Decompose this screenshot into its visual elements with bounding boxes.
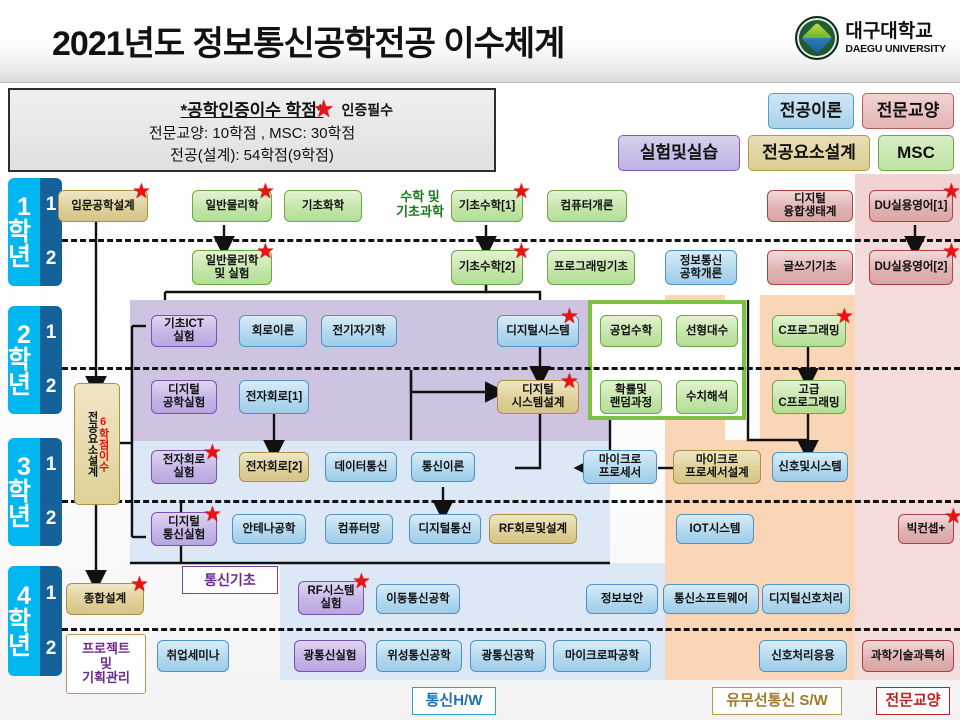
course-box-c24[interactable]: 확률및랜덤과정 <box>600 380 662 414</box>
star-icon: ★ <box>313 98 335 122</box>
year-word-1: 학년 <box>8 220 40 270</box>
course-label-c34: 디지털통신실험 <box>163 516 205 542</box>
course-label-c21: 디지털공학실험 <box>163 384 205 410</box>
design-core-credit: 6학점이수 <box>97 416 108 472</box>
year-number-4: 4 <box>17 584 31 609</box>
course-box-c32[interactable]: 마이크로프로세서설계 <box>673 450 761 484</box>
semester-separator-y4 <box>62 628 960 631</box>
course-box-c51[interactable]: 광통신공학 <box>470 640 546 672</box>
course-box-c50[interactable]: 위성통신공학 <box>376 640 462 672</box>
year-label-3: 3 학년 <box>8 438 40 546</box>
course-box-c12[interactable]: 글쓰기기초 <box>767 250 853 285</box>
group-label-math-science: 수학 및 기초과학 <box>372 190 468 220</box>
course-box-c6[interactable]: 디지털융합생태계 <box>767 190 853 222</box>
year-label-4: 4 학년 <box>8 566 40 676</box>
course-box-c33[interactable]: 신호및시스템 <box>772 452 848 482</box>
year-semesters-2: 1 2 <box>40 306 62 414</box>
course-box-c29[interactable]: 데이터통신 <box>325 452 397 482</box>
course-box-c38[interactable]: RF회로및설계 <box>489 514 577 544</box>
course-box-c8[interactable]: 일반물리학및 실험 <box>192 250 272 285</box>
course-label-c14: 기초ICT실험 <box>164 318 204 344</box>
course-label-c11: 정보통신공학개론 <box>680 255 722 281</box>
year-word-4: 학년 <box>8 609 40 659</box>
course-box-c18[interactable]: 공업수학 <box>600 315 662 347</box>
course-box-c43[interactable]: 이동통신공학 <box>376 584 460 614</box>
year-label-2: 2 학년 <box>8 306 40 414</box>
course-box-c44[interactable]: 정보보안 <box>586 584 658 614</box>
course-label-c26: 고급C프로그래밍 <box>778 384 839 410</box>
course-box-c16[interactable]: 전기자기학 <box>321 315 397 347</box>
year-semesters-4: 1 2 <box>40 566 62 676</box>
course-box-c27[interactable]: 전자회로실험 <box>151 450 217 484</box>
course-box-c5[interactable]: 컴퓨터개론 <box>547 190 627 222</box>
year-word-2: 학년 <box>8 348 40 398</box>
university-seal-icon <box>795 16 839 60</box>
year-semesters-3: 1 2 <box>40 438 62 546</box>
course-box-c13[interactable]: DU실용영어[2] <box>869 250 953 285</box>
course-box-c49[interactable]: 광통신실험 <box>294 640 366 672</box>
page-title: 2021년도 정보통신공학전공 이수체계 <box>52 16 564 65</box>
course-box-c45[interactable]: 통신소프트웨어 <box>663 584 759 614</box>
course-box-c19[interactable]: 선형대수 <box>676 315 738 347</box>
course-box-c14[interactable]: 기초ICT실험 <box>151 315 217 347</box>
course-box-c2[interactable]: 일반물리학 <box>192 190 272 222</box>
course-label-c8: 일반물리학및 실험 <box>206 255 259 281</box>
logo-name-en: DAEGU UNIVERSITY <box>845 44 946 55</box>
year-block-1: 1 학년 1 2 <box>8 178 62 286</box>
group-label-liberal-arts: 전문교양 <box>876 687 950 715</box>
course-box-c46[interactable]: 디지털신호처리 <box>762 584 850 614</box>
year-block-2: 2 학년 1 2 <box>8 306 62 414</box>
year-number-3: 3 <box>17 455 31 480</box>
university-logo: 대구대학교 DAEGU UNIVERSITY <box>795 16 946 60</box>
design-core-credit-box: 전공요소설계 6학점이수 <box>74 383 120 505</box>
course-box-c22[interactable]: 전자회로[1] <box>239 380 309 414</box>
year-number-2: 2 <box>17 323 31 348</box>
course-box-c31[interactable]: 마이크로프로세서 <box>583 450 657 484</box>
year-block-3: 3 학년 1 2 <box>8 438 62 546</box>
course-box-c35[interactable]: 안테나공학 <box>232 514 306 544</box>
credit-box-line-2: 전문교양: 10학점 , MSC: 30학점 <box>10 122 494 143</box>
course-label-c24: 확률및랜덤과정 <box>610 384 652 410</box>
group-label-wired-wireless-sw: 유무선통신 S/W <box>712 687 842 715</box>
year-block-4: 4 학년 1 2 <box>8 566 62 676</box>
group-label-comm-basic: 통신기초 <box>182 566 278 594</box>
credit-box-heading: *공학인증이수 학점* <box>10 96 494 121</box>
course-box-c20[interactable]: C프로그래밍 <box>772 315 846 347</box>
course-box-c41[interactable]: 종합설계 <box>66 583 144 615</box>
course-box-c15[interactable]: 회로이론 <box>239 315 307 347</box>
course-box-c34[interactable]: 디지털통신실험 <box>151 512 217 546</box>
course-box-c1[interactable]: 입문공학설계 <box>58 190 148 222</box>
course-box-c25[interactable]: 수치해석 <box>676 380 738 414</box>
semester-4-1: 1 <box>46 583 57 605</box>
group-label-comm-hw: 통신H/W <box>412 687 496 715</box>
legend-chip-design: 전공요소설계 <box>748 135 870 171</box>
course-box-c11[interactable]: 정보통신공학개론 <box>665 250 737 285</box>
group-label-math-science-line2: 기초과학 <box>372 205 468 220</box>
semester-2-1: 1 <box>46 322 57 344</box>
logo-name-kr: 대구대학교 <box>845 22 946 41</box>
course-label-c6: 디지털융합생태계 <box>784 193 837 219</box>
semester-2-2: 2 <box>46 376 57 398</box>
legend-chip-lab: 실험및실습 <box>618 135 740 171</box>
course-box-c48[interactable]: 취업세미나 <box>157 640 229 672</box>
legend-chip-theory: 전공이론 <box>768 93 854 129</box>
semester-3-2: 2 <box>46 508 57 530</box>
course-box-c3[interactable]: 기초화학 <box>284 190 362 222</box>
semester-separator-y1 <box>62 239 960 242</box>
year-number-1: 1 <box>17 195 31 220</box>
course-box-c23[interactable]: 디지털시스템설계 <box>497 380 579 414</box>
course-box-c54[interactable]: 과학기술과특허 <box>862 640 954 672</box>
course-box-c26[interactable]: 고급C프로그래밍 <box>772 380 846 414</box>
course-label-c42: RF시스템실험 <box>307 585 354 611</box>
course-box-c42[interactable]: RF시스템실험 <box>298 581 364 615</box>
course-box-c47[interactable]: 프로젝트및기획관리 <box>66 634 146 694</box>
course-box-c52[interactable]: 마이크로파공학 <box>553 640 651 672</box>
course-box-c40[interactable]: 빅컨셉+ <box>898 514 954 544</box>
course-box-c28[interactable]: 전자회로[2] <box>239 452 309 482</box>
accreditation-credit-box: *공학인증이수 학점* 전문교양: 10학점 , MSC: 30학점 전공(설계… <box>8 88 496 172</box>
semester-separator-y2 <box>62 367 960 370</box>
course-label-c32: 마이크로프로세서설계 <box>685 454 748 480</box>
course-box-c30[interactable]: 통신이론 <box>411 452 475 482</box>
region-liberal-arts <box>855 240 960 680</box>
semester-separator-y3 <box>62 500 960 503</box>
course-label-c47: 프로젝트및기획관리 <box>82 642 130 687</box>
design-core-label: 전공요소설계 <box>86 411 97 477</box>
year-word-3: 학년 <box>8 480 40 530</box>
course-box-c37[interactable]: 디지털통신 <box>409 514 481 544</box>
course-label-c23: 디지털시스템설계 <box>512 384 565 410</box>
course-box-c9[interactable]: 기초수학[2] <box>451 250 523 285</box>
semester-3-1: 1 <box>46 454 57 476</box>
course-box-c21[interactable]: 디지털공학실험 <box>151 380 217 414</box>
course-label-c27: 전자회로실험 <box>163 454 205 480</box>
course-box-c17[interactable]: 디지털시스템 <box>497 315 579 347</box>
course-box-c53[interactable]: 신호처리응용 <box>759 640 847 672</box>
required-star-legend: ★ 인증필수 <box>313 98 393 122</box>
semester-4-2: 2 <box>46 638 57 660</box>
course-box-c7[interactable]: DU실용영어[1] <box>869 190 953 222</box>
legend-chip-liberal: 전문교양 <box>862 93 954 129</box>
course-box-c39[interactable]: IOT시스템 <box>676 514 754 544</box>
course-label-c31: 마이크로프로세서 <box>599 454 641 480</box>
course-box-c10[interactable]: 프로그래밍기초 <box>547 250 635 285</box>
credit-box-line-3: 전공(설계): 54학점(9학점) <box>10 144 494 165</box>
page-header: 2021년도 정보통신공학전공 이수체계 대구대학교 DAEGU UNIVERS… <box>0 0 960 83</box>
star-legend-label: 인증필수 <box>342 100 394 120</box>
legend-chip-msc: MSC <box>878 135 954 171</box>
year-label-1: 1 학년 <box>8 178 40 286</box>
semester-1-1: 1 <box>46 194 57 216</box>
course-box-c36[interactable]: 컴퓨터망 <box>325 514 393 544</box>
semester-1-2: 2 <box>46 248 57 270</box>
group-label-math-science-line1: 수학 및 <box>372 190 468 205</box>
